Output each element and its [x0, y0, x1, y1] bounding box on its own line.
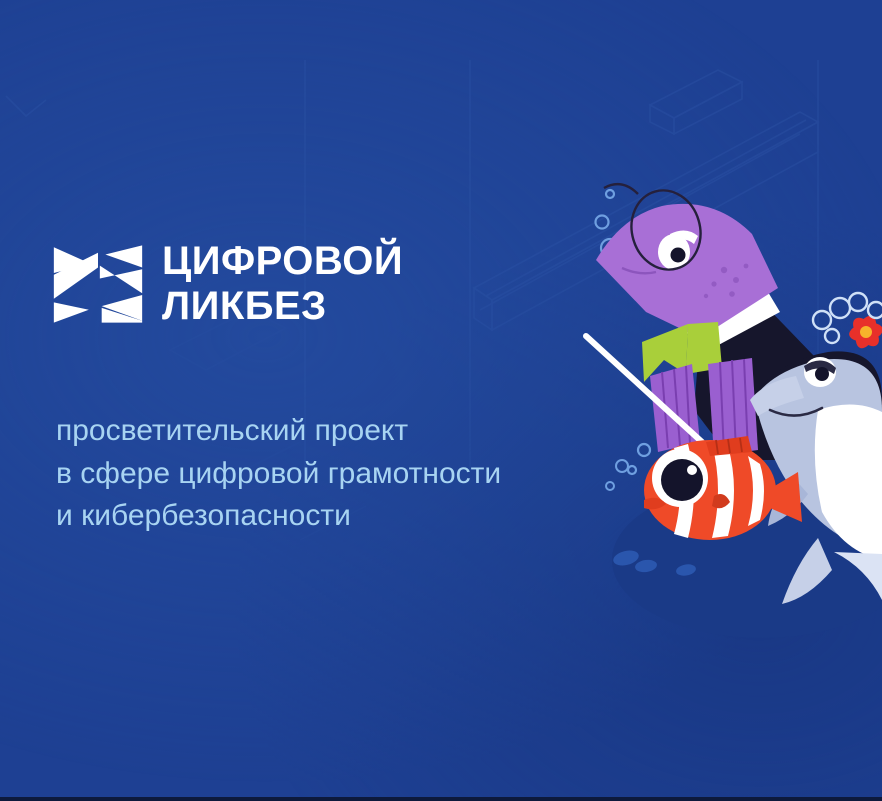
- tagline-line-3: и кибербезопасности: [56, 495, 656, 538]
- background-fill: [0, 0, 882, 801]
- tagline-line-2: в сфере цифровой грамотности: [56, 453, 656, 496]
- tagline: просветительский проект в сфере цифровой…: [56, 410, 656, 538]
- tagline-line-1: просветительский проект: [56, 410, 656, 453]
- bottom-edge-strip: [0, 797, 882, 801]
- brand-wordmark-line-2: ЛИКБЕЗ: [162, 287, 403, 326]
- brand-logo[interactable]: ЦИФРОВОЙ ЛИКБЕЗ: [52, 238, 403, 330]
- brand-wordmark-line-1: ЦИФРОВОЙ: [162, 242, 403, 281]
- digital-literacy-chevron-mark-icon: [52, 238, 144, 330]
- brand-wordmark: ЦИФРОВОЙ ЛИКБЕЗ: [162, 242, 403, 325]
- poster-canvas: ЦИФРОВОЙ ЛИКБЕЗ просветительский проект …: [0, 0, 882, 801]
